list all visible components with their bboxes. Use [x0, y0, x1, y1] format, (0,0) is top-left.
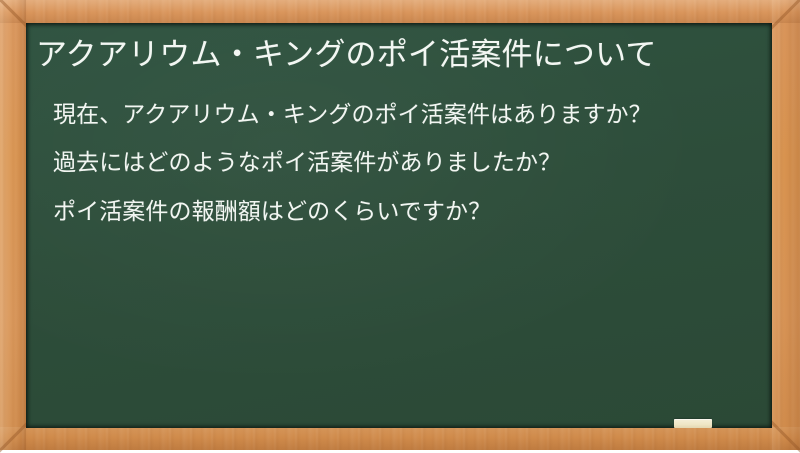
question-item: 現在、アクアリウム・キングのポイ活案件はありますか？	[53, 99, 758, 132]
chalkboard-surface: アクアリウム・キングのポイ活案件について 現在、アクアリウム・キングのポイ活案件…	[26, 23, 772, 428]
frame-miter-top-right	[769, 0, 800, 30]
frame-rail-left	[0, 0, 26, 450]
chalkboard-frame: アクアリウム・キングのポイ活案件について 現在、アクアリウム・キングのポイ活案件…	[0, 0, 800, 450]
board-title: アクアリウム・キングのポイ活案件について	[36, 34, 758, 77]
chalk-stick	[674, 419, 712, 428]
question-item: ポイ活案件の報酬額はどのくらいですか？	[53, 196, 758, 229]
board-content: アクアリウム・キングのポイ活案件について 現在、アクアリウム・キングのポイ活案件…	[26, 23, 772, 428]
frame-rail-bottom	[0, 427, 800, 450]
question-item: 過去にはどのようなポイ活案件がありましたか？	[53, 147, 758, 180]
frame-rail-top	[0, 0, 800, 23]
frame-rail-right	[772, 0, 800, 450]
question-list: 現在、アクアリウム・キングのポイ活案件はありますか？ 過去にはどのようなポイ活案…	[36, 99, 758, 229]
frame-miter-bottom-right	[769, 420, 800, 453]
